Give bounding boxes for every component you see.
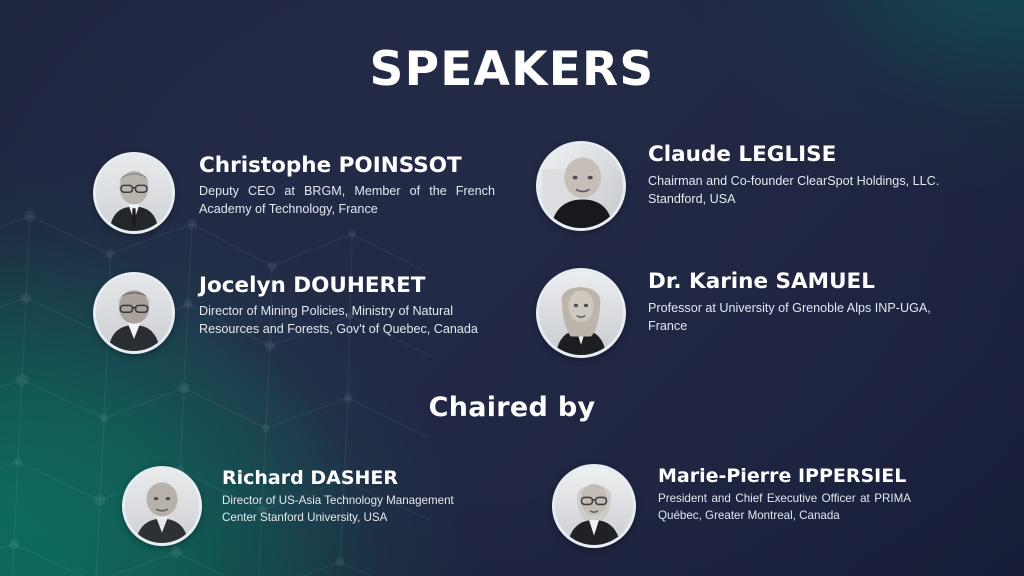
speaker-card: Jocelyn DOUHERET Director of Mining Poli…: [93, 272, 491, 354]
chair-card: Richard DASHER Director of US-Asia Techn…: [122, 466, 457, 546]
chair-role: President and Chief Executive Officer at…: [658, 491, 911, 524]
speaker-name: Christophe POINSSOT: [199, 154, 495, 178]
chair-role: Director of US-Asia Technology Managemen…: [222, 493, 457, 526]
speaker-text: Dr. Karine SAMUEL Professor at Universit…: [648, 268, 938, 336]
chair-name: Marie-Pierre IPPERSIEL: [658, 466, 911, 487]
speaker-card: Christophe POINSSOT Deputy CEO at BRGM, …: [93, 152, 495, 234]
avatar: [536, 141, 626, 231]
avatar: [93, 152, 175, 234]
chair-card: Marie-Pierre IPPERSIEL President and Chi…: [552, 464, 911, 548]
chair-text: Richard DASHER Director of US-Asia Techn…: [222, 466, 457, 526]
chaired-by-label: Chaired by: [0, 392, 1024, 423]
speaker-name: Jocelyn DOUHERET: [199, 274, 491, 298]
chair-text: Marie-Pierre IPPERSIEL President and Chi…: [658, 464, 911, 524]
speaker-name: Dr. Karine SAMUEL: [648, 270, 938, 294]
avatar: [122, 466, 202, 546]
avatar: [552, 464, 636, 548]
speaker-role: Deputy CEO at BRGM, Member of the French…: [199, 183, 495, 219]
speaker-card: Claude LEGLISE Chairman and Co-founder C…: [536, 141, 944, 231]
chair-name: Richard DASHER: [222, 468, 457, 489]
avatar: [93, 272, 175, 354]
speaker-text: Jocelyn DOUHERET Director of Mining Poli…: [199, 272, 491, 339]
speaker-role: Professor at University of Grenoble Alps…: [648, 300, 938, 336]
speaker-name: Claude LEGLISE: [648, 143, 944, 167]
page-title: SPEAKERS: [0, 42, 1024, 97]
speaker-text: Christophe POINSSOT Deputy CEO at BRGM, …: [199, 152, 495, 219]
speaker-role: Director of Mining Policies, Ministry of…: [199, 303, 491, 339]
speaker-card: Dr. Karine SAMUEL Professor at Universit…: [536, 268, 938, 358]
speaker-role: Chairman and Co-founder ClearSpot Holdin…: [648, 173, 944, 209]
speaker-text: Claude LEGLISE Chairman and Co-founder C…: [648, 141, 944, 209]
avatar: [536, 268, 626, 358]
speakers-slide: SPEAKERS Christophe POINSSOT Deputy CEO …: [0, 0, 1024, 576]
